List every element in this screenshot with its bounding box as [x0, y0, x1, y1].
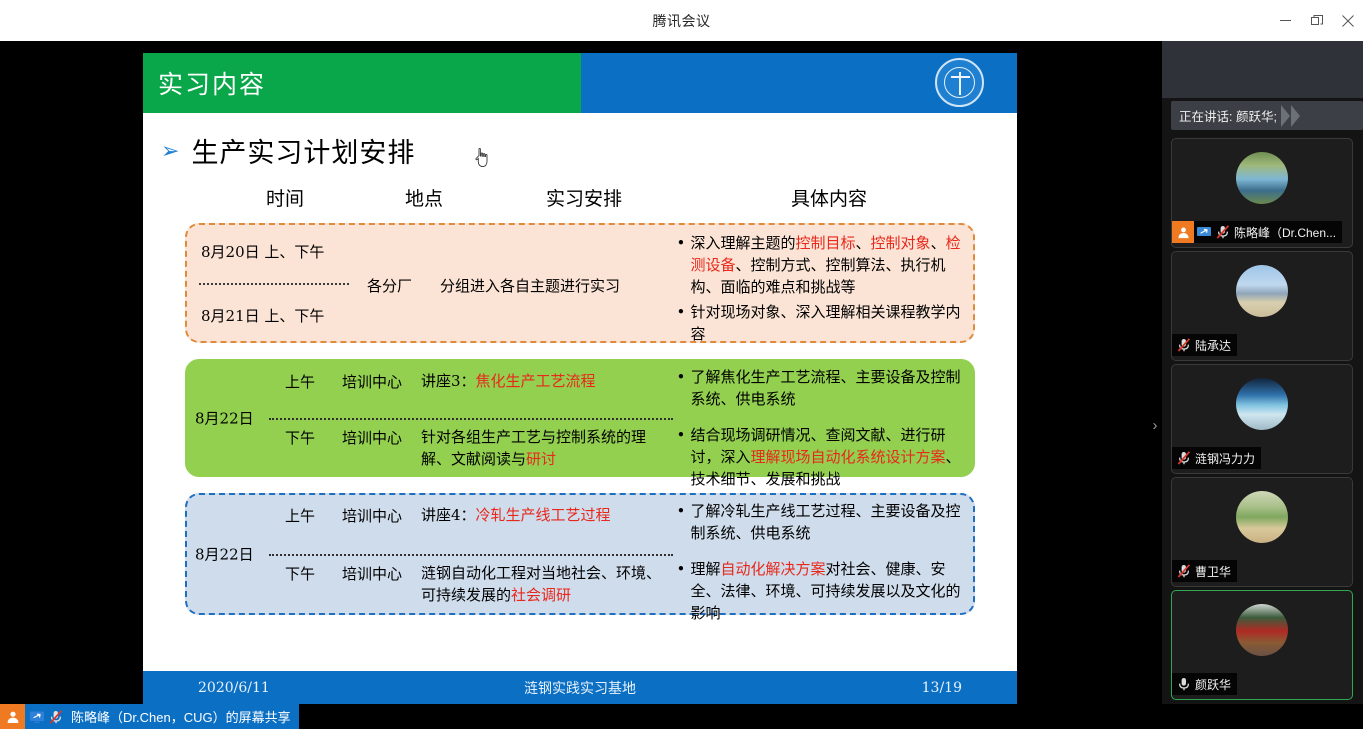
bullet-dot-icon: • [677, 233, 691, 298]
blue-details-morning: •了解冷轧生产线工艺过程、主要设备及控制系统、供电系统 [677, 501, 968, 549]
slide-section-heading: ➢ 生产实习计划安排 [161, 131, 1017, 170]
detail-bullet: •理解自动化解决方案对社会、健康、安全、法律、环境、可持续发展以及文化的影响 [677, 559, 968, 624]
detail-bullet-text: 了解焦化生产工艺流程、主要设备及控制系统、供电系统 [691, 367, 968, 411]
slide-footer-page-number: 13/19 [812, 680, 962, 696]
detail-bullet-text: 深入理解主题的控制目标、控制对象、检测设备、控制方式、控制算法、执行机构、面临的… [691, 233, 968, 298]
detail-bullet-text: 结合现场调研情况、查阅文献、进行研讨，深入理解现场自动化系统设计方案、技术细节、… [691, 425, 968, 490]
close-button[interactable] [1332, 0, 1363, 41]
participant-namebar: 涟钢冯力力 [1172, 447, 1261, 469]
participant-tile[interactable]: 陈略峰（Dr.Chen... [1171, 138, 1353, 248]
panel-top-strip [1162, 41, 1363, 98]
participant-tile[interactable]: 陆承达 [1171, 251, 1353, 361]
green-divider [269, 418, 673, 420]
green-row-morning: 上午 培训中心 讲座3：焦化生产工艺流程 [269, 371, 675, 393]
host-person-icon [0, 704, 25, 729]
slide-header-blue-band [581, 53, 1017, 113]
mic-muted-icon [1176, 450, 1192, 466]
restore-button[interactable] [1301, 0, 1332, 41]
blue-row-morning-place: 培训中心 [331, 505, 413, 527]
blue-divider [269, 554, 673, 556]
screen-share-icon [29, 709, 45, 725]
presentation-slide: 实习内容 ➢ 生产实习计划安排 时间 地点 实习安排 具体内容 [143, 53, 1017, 704]
green-details-morning: •了解焦化生产工艺流程、主要设备及控制系统、供电系统 [677, 367, 968, 417]
participant-name: 曹卫华 [1195, 563, 1231, 580]
schedule-block-blue-details: •了解冷轧生产线工艺过程、主要设备及控制系统、供电系统 •理解自动化解决方案对社… [673, 495, 974, 613]
green-row-afternoon-place: 培训中心 [331, 427, 413, 471]
participant-namebar: 曹卫华 [1172, 560, 1237, 582]
blue-row-morning: 上午 培训中心 讲座4：冷轧生产线工艺过程 [269, 505, 675, 527]
blue-row-morning-time: 上午 [269, 505, 331, 527]
participant-tile[interactable]: 涟钢冯力力 [1171, 364, 1353, 474]
bullet-dot-icon: • [677, 559, 691, 624]
slide-section-title: 生产实习计划安排 [191, 131, 415, 170]
detail-bullet: •了解焦化生产工艺流程、主要设备及控制系统、供电系统 [677, 367, 968, 411]
avatar [1236, 491, 1288, 543]
blue-date: 8月22日 [195, 544, 254, 565]
blue-details-afternoon: •理解自动化解决方案对社会、健康、安全、法律、环境、可持续发展以及文化的影响 [677, 559, 968, 624]
blue-row-morning-arrangement: 讲座4：冷轧生产线工艺过程 [413, 505, 675, 527]
blue-row-afternoon-place: 培训中心 [331, 563, 413, 607]
column-header-details: 具体内容 [689, 184, 969, 211]
slide-header-green-band: 实习内容 [143, 53, 581, 113]
shared-screen-stage: 实习内容 ➢ 生产实习计划安排 时间 地点 实习安排 具体内容 [0, 41, 1162, 704]
orange-place: 各分厂 [367, 275, 412, 296]
bullet-dot-icon: • [677, 425, 691, 490]
participant-tile[interactable]: 颜跃华 [1171, 590, 1353, 700]
orange-divider [199, 283, 349, 285]
schedule-block-blue: 8月22日 上午 培训中心 讲座4：冷轧生产线工艺过程 下午 培训中心 涟钢自动… [185, 493, 975, 615]
green-row-morning-time: 上午 [269, 371, 331, 393]
green-row-morning-arrangement: 讲座3：焦化生产工艺流程 [413, 371, 675, 393]
blue-row-afternoon: 下午 培训中心 涟钢自动化工程对当地社会、环境、可持续发展的社会调研 [269, 563, 675, 607]
orange-date-top: 8月20日 上、下午 [201, 241, 324, 262]
green-details-afternoon: •结合现场调研情况、查阅文献、进行研讨，深入理解现场自动化系统设计方案、技术细节… [677, 425, 968, 490]
avatar [1236, 378, 1288, 430]
mic-on-icon [1176, 676, 1192, 692]
participant-tile[interactable]: 曹卫华 [1171, 477, 1353, 587]
participant-name: 陈略峰（Dr.Chen... [1234, 224, 1336, 241]
avatar [1236, 604, 1288, 656]
schedule-column-headers: 时间 地点 实习安排 具体内容 [143, 184, 1017, 211]
screen-share-label: 陈略峰（Dr.Chen，CUG）的屏幕共享 [71, 707, 291, 726]
slide-header: 实习内容 [143, 53, 1017, 113]
blue-row-afternoon-time: 下午 [269, 563, 331, 607]
bullet-dot-icon: • [677, 367, 691, 411]
green-row-afternoon: 下午 培训中心 针对各组生产工艺与控制系统的理解、文献阅读与研讨 [269, 427, 675, 471]
schedule-block-orange-details: •深入理解主题的控制目标、控制对象、检测设备、控制方式、控制算法、执行机构、面临… [673, 225, 974, 341]
mic-muted-icon [1176, 337, 1192, 353]
schedule-block-orange-left: 8月20日 上、下午 8月21日 上、下午 各分厂 分组进入各自主题进行实习 [187, 225, 673, 341]
schedule-block-orange: 8月20日 上、下午 8月21日 上、下午 各分厂 分组进入各自主题进行实习 •… [185, 223, 975, 343]
slide-header-title: 实习内容 [158, 65, 266, 101]
detail-bullet-text: 针对现场对象、深入理解相关课程教学内容 [691, 302, 968, 346]
mouse-cursor [474, 148, 490, 168]
window-titlebar: 腾讯会议 [0, 0, 1363, 41]
screen-share-indicator: 陈略峰（Dr.Chen，CUG）的屏幕共享 [0, 704, 299, 729]
bullet-dot-icon: • [677, 302, 691, 346]
detail-bullet-text: 理解自动化解决方案对社会、健康、安全、法律、环境、可持续发展以及文化的影响 [691, 559, 968, 624]
university-seal-icon [935, 58, 984, 107]
participant-namebar: 陆承达 [1172, 334, 1237, 356]
arrow-bullet-icon: ➢ [161, 140, 179, 162]
detail-bullet: •针对现场对象、深入理解相关课程教学内容 [677, 302, 968, 346]
participant-name: 陆承达 [1195, 337, 1231, 354]
detail-bullet: •深入理解主题的控制目标、控制对象、检测设备、控制方式、控制算法、执行机构、面临… [677, 233, 968, 298]
speaking-now-label: 正在讲话: 颜跃华; [1179, 106, 1277, 125]
column-header-place: 地点 [369, 184, 479, 211]
detail-bullet: •结合现场调研情况、查阅文献、进行研讨，深入理解现场自动化系统设计方案、技术细节… [677, 425, 968, 490]
schedule-block-green-details: •了解焦化生产工艺流程、主要设备及控制系统、供电系统 •结合现场调研情况、查阅文… [673, 361, 974, 475]
schedule-block-green: 8月22日 上午 培训中心 讲座3：焦化生产工艺流程 下午 培训中心 针对各组生… [185, 359, 975, 477]
minimize-button[interactable] [1270, 0, 1301, 41]
bottom-status-bar: 陈略峰（Dr.Chen，CUG）的屏幕共享 [0, 704, 1363, 729]
tencent-meeting-window: 腾讯会议 实习内容 [0, 0, 1363, 729]
speaking-now-banner: 正在讲话: 颜跃华; [1171, 101, 1363, 130]
green-row-afternoon-time: 下午 [269, 427, 331, 471]
avatar [1236, 265, 1288, 317]
green-row-afternoon-arrangement: 针对各组生产工艺与控制系统的理解、文献阅读与研讨 [413, 427, 675, 471]
schedule-block-green-left: 8月22日 上午 培训中心 讲座3：焦化生产工艺流程 下午 培训中心 针对各组生… [187, 361, 673, 475]
window-title: 腾讯会议 [653, 11, 711, 31]
slide-body: ➢ 生产实习计划安排 时间 地点 实习安排 具体内容 8月20日 上、下午 8月… [143, 131, 1017, 689]
collapse-panel-chevron-icon[interactable]: › [1148, 413, 1162, 437]
mic-muted-icon [1215, 224, 1231, 240]
speaking-wave-icon [1281, 105, 1300, 127]
screen-share-icon [1196, 224, 1212, 240]
window-controls [1270, 0, 1363, 41]
host-person-icon [1172, 221, 1194, 243]
slide-footer: 2020/6/11 涟钢实践实习基地 13/19 [143, 671, 1017, 704]
participant-name: 颜跃华 [1195, 676, 1231, 693]
mic-muted-icon [1176, 563, 1192, 579]
blue-row-afternoon-arrangement: 涟钢自动化工程对当地社会、环境、可持续发展的社会调研 [413, 563, 675, 607]
column-header-time: 时间 [201, 184, 369, 211]
green-date: 8月22日 [195, 408, 254, 429]
orange-arrangement: 分组进入各自主题进行实习 [440, 275, 620, 296]
schedule-block-blue-left: 8月22日 上午 培训中心 讲座4：冷轧生产线工艺过程 下午 培训中心 涟钢自动… [187, 495, 673, 613]
detail-bullet-text: 了解冷轧生产线工艺过程、主要设备及控制系统、供电系统 [691, 501, 968, 545]
avatar [1236, 152, 1288, 204]
participant-namebar: 颜跃华 [1172, 673, 1237, 695]
orange-date-bottom: 8月21日 上、下午 [201, 305, 324, 326]
slide-footer-center: 涟钢实践实习基地 [348, 678, 812, 698]
green-row-morning-place: 培训中心 [331, 371, 413, 393]
participant-name: 涟钢冯力力 [1195, 450, 1255, 467]
participant-namebar: 陈略峰（Dr.Chen... [1172, 221, 1342, 243]
slide-footer-date: 2020/6/11 [198, 680, 348, 696]
column-header-arrangement: 实习安排 [479, 184, 689, 211]
detail-bullet: •了解冷轧生产线工艺过程、主要设备及控制系统、供电系统 [677, 501, 968, 545]
participant-panel: 正在讲话: 颜跃华; 陈略峰（Dr.Chen...陆承达涟钢冯力力曹卫华颜跃华 [1162, 41, 1363, 729]
mic-muted-icon [48, 709, 64, 725]
bullet-dot-icon: • [677, 501, 691, 545]
